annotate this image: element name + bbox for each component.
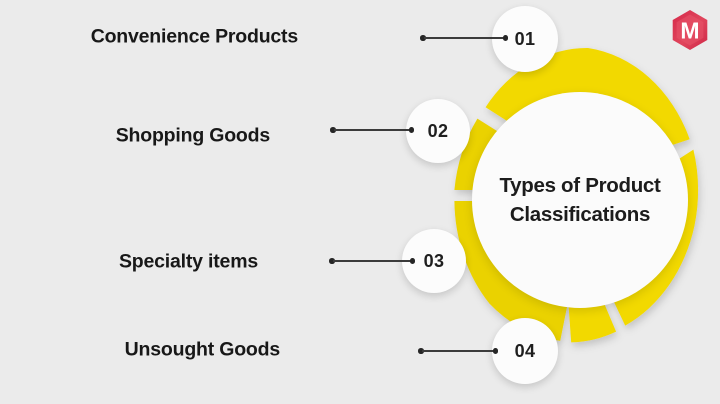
center-title-line-1: Types of Product (499, 174, 660, 197)
item-label-shopping-goods: Shopping Goods (116, 125, 270, 148)
item-label-convenience-products: Convenience Products (91, 26, 298, 49)
logo-letter: M (680, 18, 699, 44)
infographic-canvas: Types of Product Classifications 01 02 0… (0, 0, 720, 404)
badge-02[interactable]: 02 (406, 99, 470, 163)
center-title-disc: Types of Product Classifications (472, 92, 688, 308)
page-title: Types of Product Classifications (475, 171, 685, 229)
connector-dot-end (493, 348, 499, 354)
connector-line-04 (418, 345, 498, 357)
connector-line-03 (329, 255, 415, 267)
connector-rule (333, 260, 411, 262)
connector-rule (424, 37, 504, 39)
connector-line-02 (330, 124, 414, 136)
item-label-unsought-goods: Unsought Goods (125, 339, 280, 362)
hexagon-logo-icon: M (670, 9, 710, 51)
connector-line-01 (420, 32, 508, 44)
connector-dot-end (503, 35, 509, 41)
connector-dot-end (409, 127, 415, 133)
connector-rule (334, 129, 410, 131)
item-label-specialty-items: Specialty items (119, 251, 258, 274)
center-title-line-2: Classifications (510, 203, 650, 226)
connector-dot-end (410, 258, 416, 264)
badge-04[interactable]: 04 (492, 318, 558, 384)
connector-rule (422, 350, 494, 352)
